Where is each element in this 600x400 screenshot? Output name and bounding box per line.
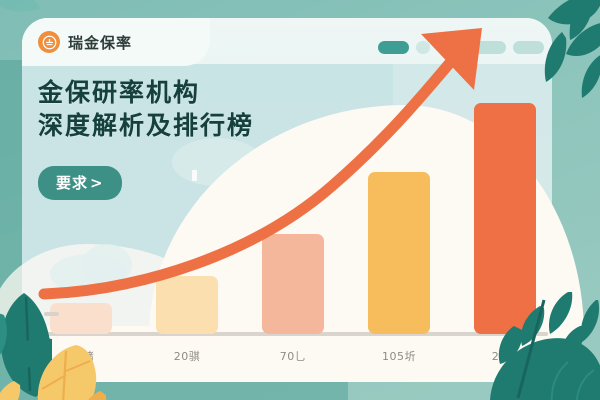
cta-label: 要求 (56, 172, 88, 193)
x-axis-label: 105圻 (382, 348, 416, 364)
headline-line-1: 金保研率机构 (38, 78, 200, 107)
chevron-right-icon: > (90, 174, 104, 192)
x-axis-label: 70乚 (280, 348, 307, 364)
decorative-speck (192, 170, 197, 181)
bar-5 (474, 103, 536, 334)
x-axis-label: 25厂 (492, 348, 519, 364)
bar-4 (368, 172, 430, 334)
bar-3 (262, 234, 324, 334)
headline-line-2: 深度解析及排行榜 (38, 109, 254, 142)
page-title: 金保研率机构 深度解析及排行榜 (38, 76, 254, 142)
x-axis-label: 10赌 (68, 348, 95, 364)
x-axis-label: 20骐 (174, 348, 201, 364)
infographic-poster: 10赌20骐70乚105圻25厂 瑞金保率 金保研率机构 (0, 0, 600, 400)
bar-2 (156, 276, 218, 334)
chart-x-axis: 10赌20骐70乚105圻25厂 (22, 344, 552, 364)
axis-tick-mark (44, 312, 59, 316)
cta-button[interactable]: 要求 > (38, 166, 122, 200)
bar-chart: 10赌20骐70乚105圻25厂 (22, 18, 552, 382)
bar-1 (50, 303, 112, 334)
